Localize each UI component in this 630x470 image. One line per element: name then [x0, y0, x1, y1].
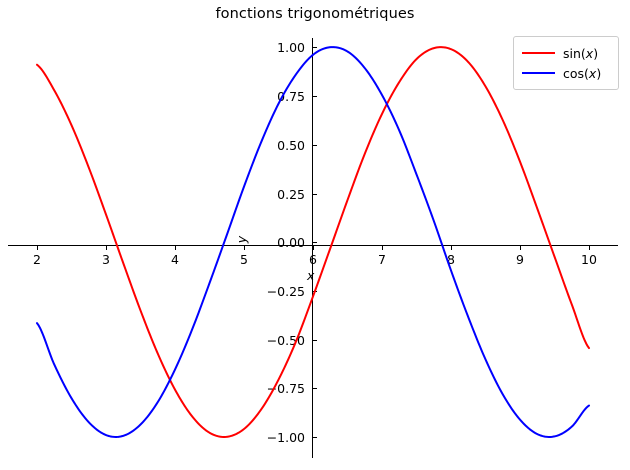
- sin-curve: [37, 47, 589, 437]
- legend-label-cos: cos(x): [563, 66, 601, 81]
- legend-label-sin: sin(x): [563, 46, 598, 61]
- cos-curve: [37, 47, 589, 437]
- legend-item-sin[interactable]: sin(x): [522, 43, 610, 63]
- legend-line-sin-icon: [522, 52, 555, 55]
- matplotlib-figure: fonctions trigonométriques 2 3 4 5 6 7 8…: [0, 0, 630, 470]
- legend-item-cos[interactable]: cos(x): [522, 63, 610, 83]
- legend-line-cos-icon: [522, 72, 555, 75]
- legend[interactable]: sin(x) cos(x): [513, 36, 619, 90]
